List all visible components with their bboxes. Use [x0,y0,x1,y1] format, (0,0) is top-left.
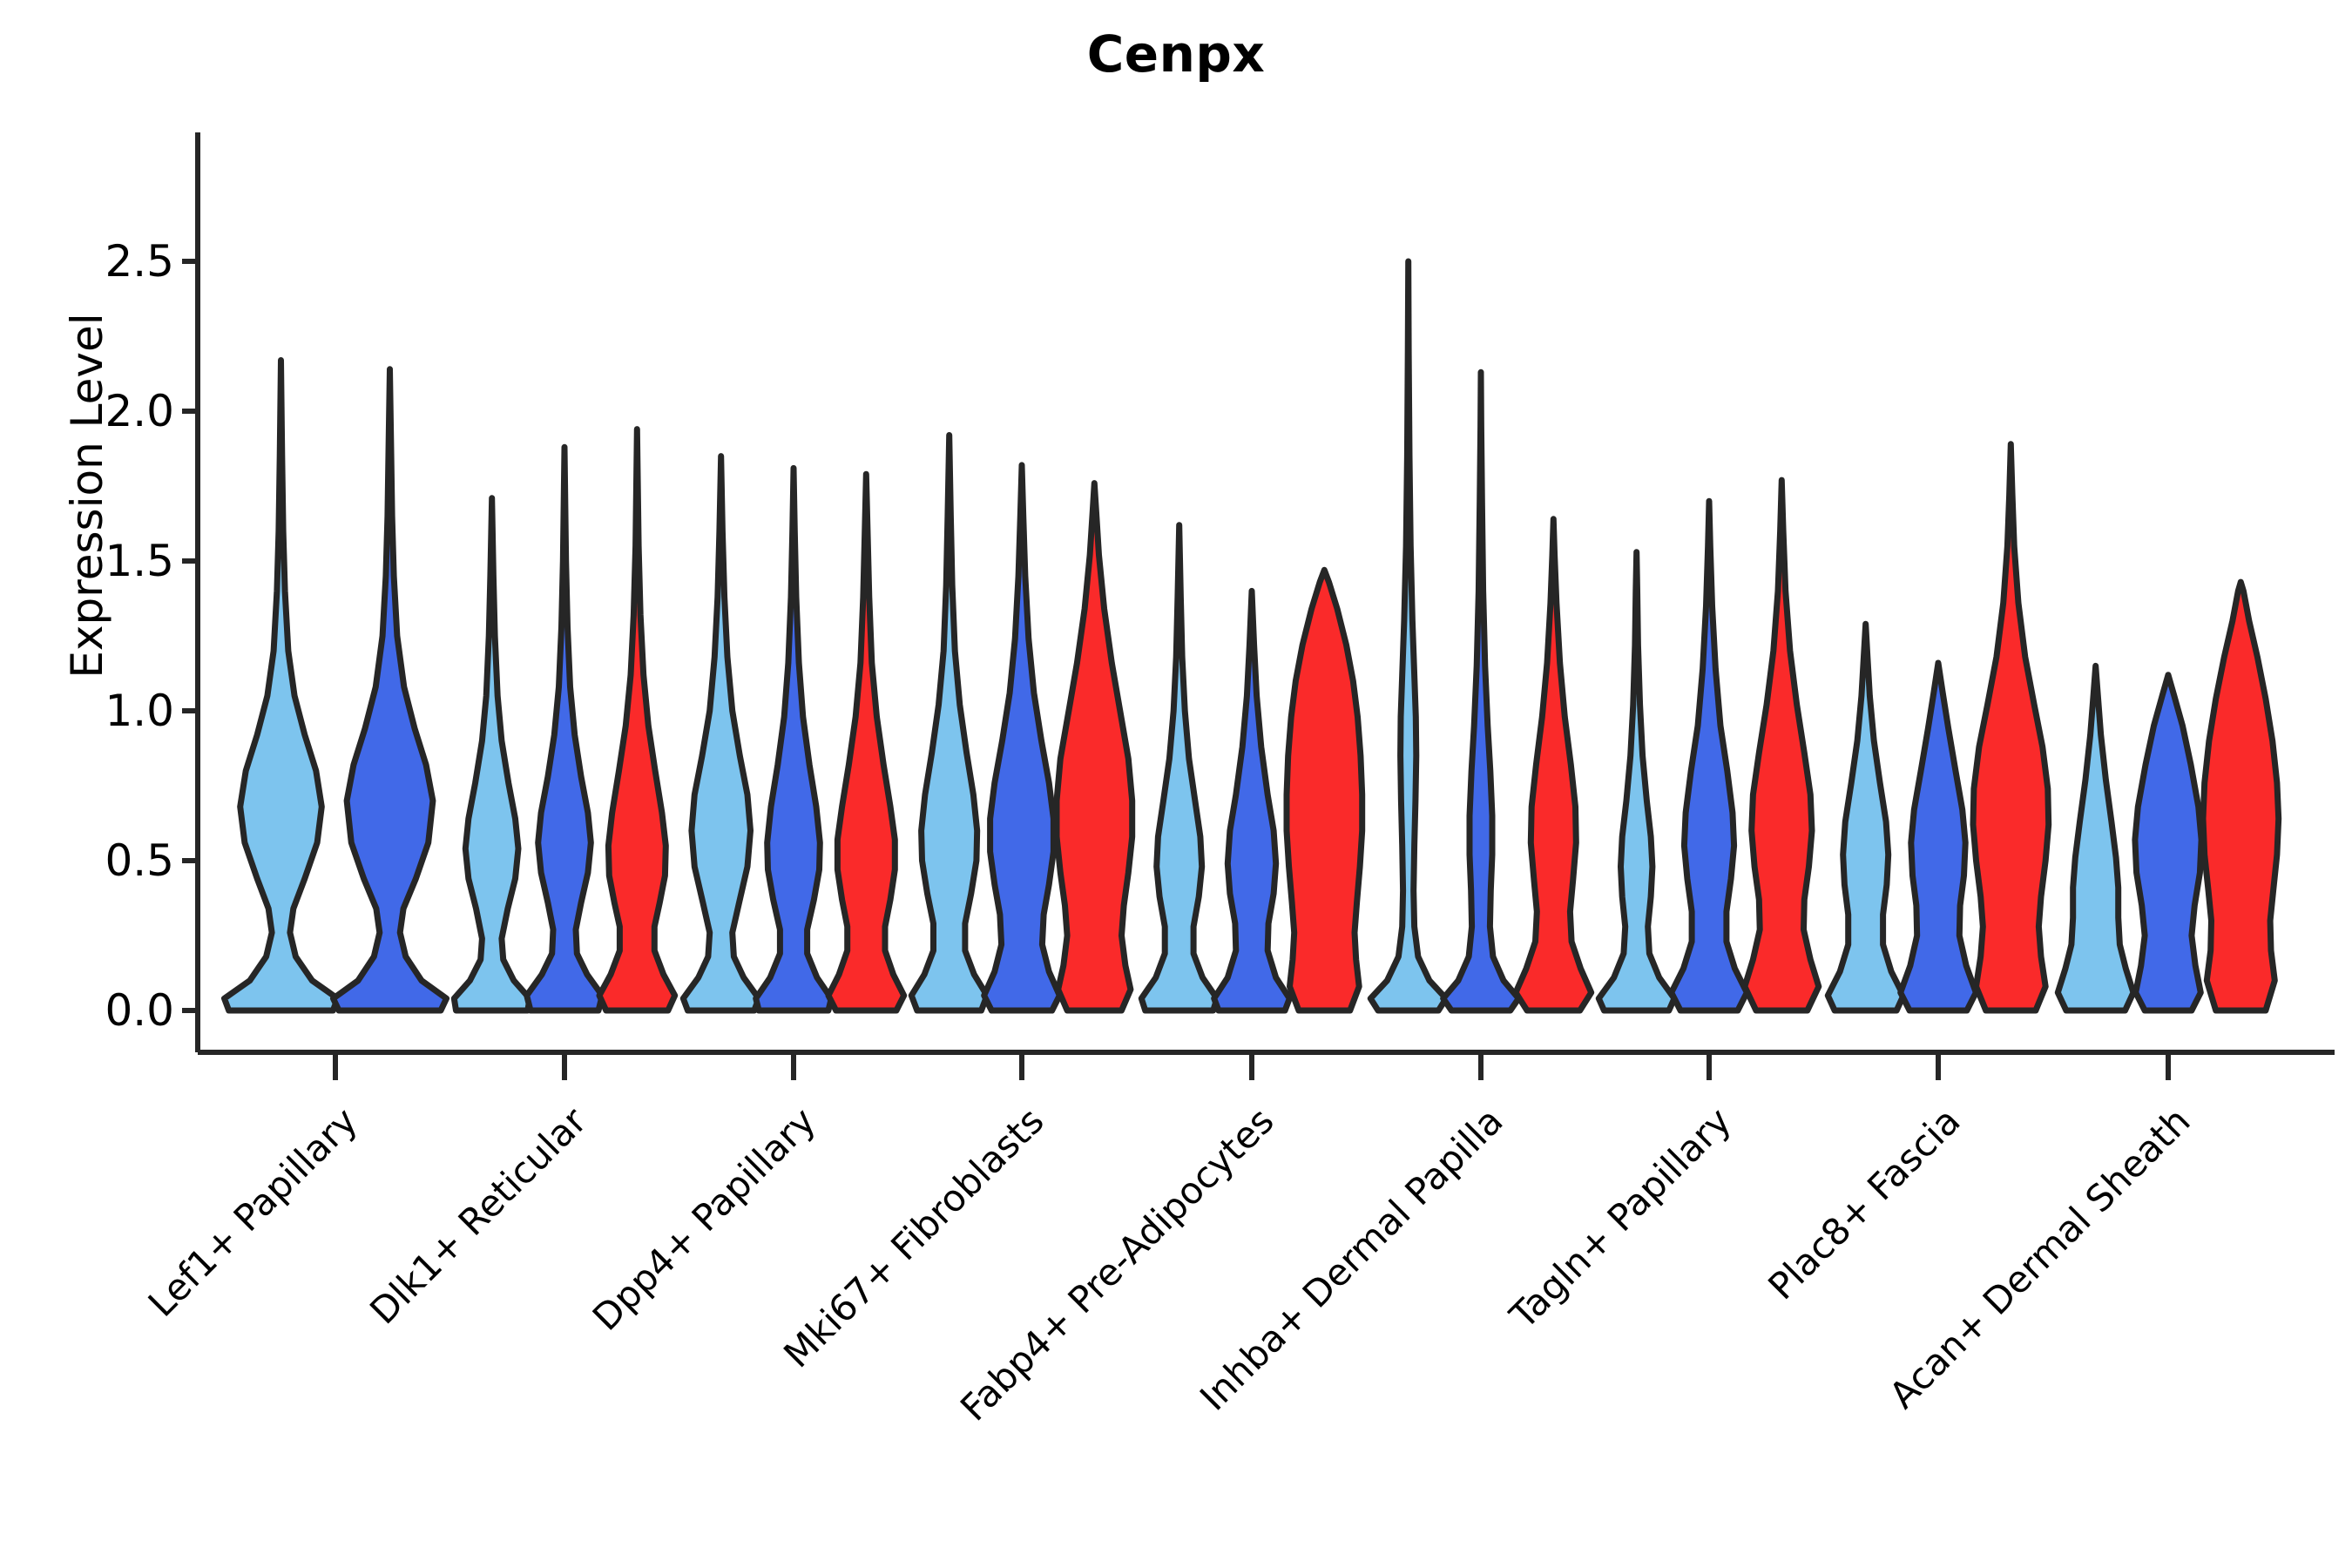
violin-plot-figure: Cenpx Expression Level 0.00.51.01.52.02.… [0,0,2352,1568]
violin-light-blue-condition-0[interactable] [225,361,338,1011]
violin-red-condition-8[interactable] [2203,582,2279,1010]
violin-red-condition-7[interactable] [1973,444,2049,1010]
violin-blue-condition-4[interactable] [1214,591,1290,1010]
violin-light-blue-condition-4[interactable] [1141,525,1217,1010]
violin-light-blue-condition-7[interactable] [1828,624,1903,1010]
violin-blue-condition-7[interactable] [1901,663,1977,1010]
violin-light-blue-condition-8[interactable] [2058,666,2133,1010]
violin-blue-condition-5[interactable] [1443,372,1519,1010]
violin-blue-condition-3[interactable] [984,465,1060,1010]
violin-red-condition-1[interactable] [599,429,675,1010]
violin-blue-condition-6[interactable] [1672,501,1747,1010]
violin-red-condition-2[interactable] [828,474,904,1010]
violin-blue-condition-1[interactable] [527,447,603,1010]
violin-blue-condition-0[interactable] [334,369,447,1010]
violin-light-blue-condition-2[interactable] [683,456,759,1010]
violin-light-blue-condition-1[interactable] [454,498,530,1010]
violin-blue-condition-2[interactable] [756,468,832,1010]
violin-red-condition-4[interactable] [1287,570,1362,1010]
violin-red-condition-3[interactable] [1057,483,1132,1010]
violin-red-condition-6[interactable] [1745,480,1819,1010]
violin-light-blue-condition-6[interactable] [1598,552,1674,1010]
violin-light-blue-condition-5[interactable] [1370,261,1446,1010]
violin-series-group [225,261,2279,1010]
violin-red-condition-5[interactable] [1516,519,1592,1010]
violin-light-blue-condition-3[interactable] [911,436,987,1011]
violin-blue-condition-8[interactable] [2135,675,2201,1010]
